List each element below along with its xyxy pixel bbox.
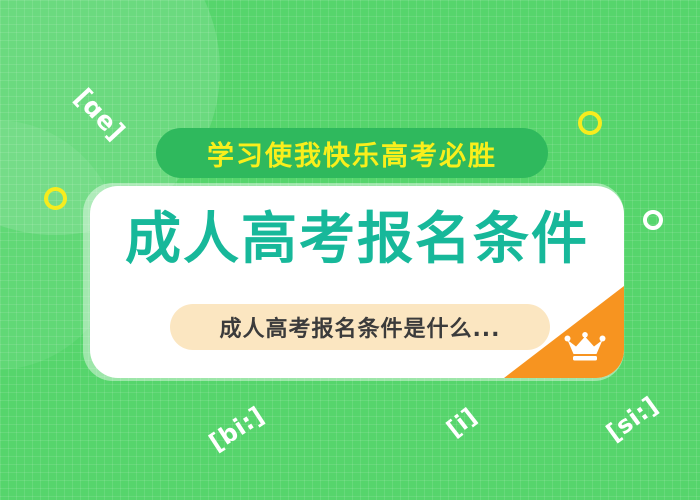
ring-yellow-left-icon bbox=[44, 187, 67, 210]
phonetic-si: [si:] bbox=[601, 391, 663, 447]
crown-icon bbox=[564, 332, 606, 362]
top-banner: 学习使我快乐高考必胜 bbox=[156, 128, 548, 178]
ring-yellow-right-icon bbox=[578, 111, 602, 135]
ring-white-icon bbox=[643, 210, 663, 230]
top-banner-text: 学习使我快乐高考必胜 bbox=[207, 134, 497, 173]
subtitle-text: 成人高考报名条件是什么... bbox=[219, 311, 500, 343]
main-card: 成人高考报名条件 成人高考报名条件是什么... bbox=[90, 186, 624, 378]
phonetic-i: [i] bbox=[442, 403, 482, 442]
phonetic-bi: [bi:] bbox=[204, 401, 269, 457]
page-title: 成人高考报名条件 bbox=[90, 212, 624, 268]
subtitle-pill: 成人高考报名条件是什么... bbox=[170, 304, 550, 350]
poster-canvas: [ɑe] [bi:] [i] [si:] 学习使我快乐高考必胜 成人高考报名条件… bbox=[0, 0, 700, 500]
phonetic-ae: [ɑe] bbox=[69, 83, 131, 146]
